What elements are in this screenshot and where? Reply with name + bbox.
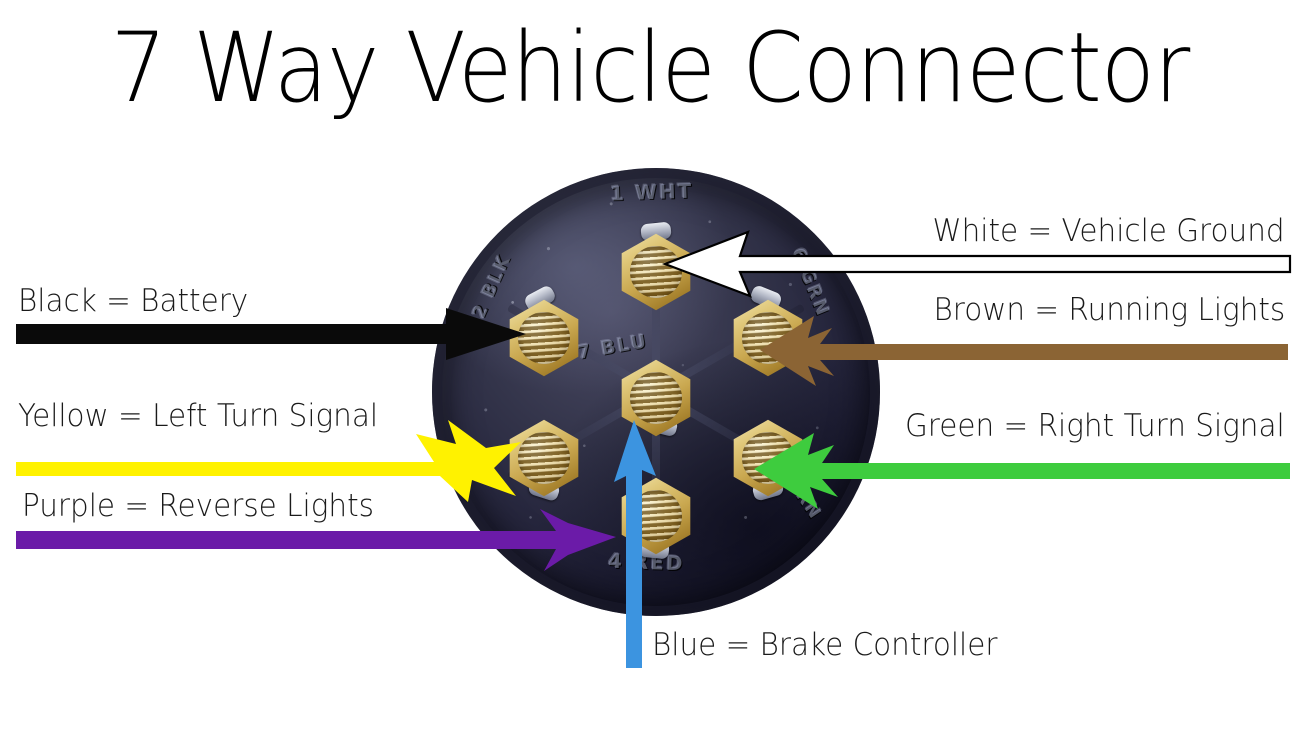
terminal-threads: [630, 372, 682, 424]
callout-label-blue: Blue = Brake Controller: [652, 626, 997, 664]
diagram-canvas: 7 Way Vehicle Connector 1 WHT 2 BLK 6 GR…: [0, 0, 1300, 730]
callout-arrow-black: [16, 300, 526, 370]
callout-arrow-blue: [598, 418, 678, 670]
callout-arrow-white: [660, 228, 1292, 298]
callout-arrow-purple: [16, 505, 626, 575]
page-title: 7 Way Vehicle Connector: [52, 12, 1248, 124]
callout-arrow-green: [752, 425, 1292, 515]
molded-label-1-wht: 1 WHT: [610, 179, 694, 206]
callout-arrow-brown: [758, 310, 1290, 390]
terminal-socket: [630, 372, 682, 424]
